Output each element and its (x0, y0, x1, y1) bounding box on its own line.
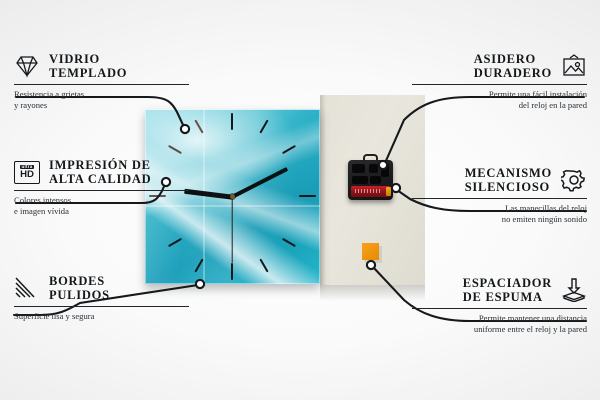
wall-panel-shadow (320, 285, 425, 301)
mechanism-detail (369, 164, 378, 173)
feature-desc-line2: no emiten ningún sonido (412, 214, 587, 225)
feature-mecanismo-silencioso: MECANISMO SILENCIOSO Las manecillas del … (412, 166, 587, 224)
polished-edge-icon (14, 276, 40, 300)
mechanism-detail (352, 176, 368, 184)
feature-title-line2: DE ESPUMA (463, 290, 552, 304)
feature-desc-line2: y rayones (14, 100, 189, 111)
feature-title-line2: SILENCIOSO (465, 180, 552, 194)
clock-mechanism (348, 160, 393, 200)
feature-espaciador-de-espuma: ESPACIADOR DE ESPUMA Permite mantener un… (412, 276, 587, 334)
feature-desc-line1: Resistencia a grietas (14, 89, 189, 100)
feature-bordes-pulidos: BORDES PULIDOS Superficie lisa y segura (14, 274, 189, 322)
mechanism-detail (381, 164, 389, 177)
mechanism-hanger-icon (363, 154, 378, 162)
feature-desc-line1: Colores intensos (14, 195, 189, 206)
ultra-hd-text: HD (20, 170, 34, 180)
feature-title-line1: ASIDERO (474, 52, 552, 66)
feature-title-line1: IMPRESIÓN DE (49, 158, 151, 172)
diamond-icon (14, 54, 40, 78)
divider (14, 190, 189, 191)
feature-title-line1: VIDRIO (49, 52, 127, 66)
divider (412, 84, 587, 85)
feature-impresion-alta-calidad: ultra HD IMPRESIÓN DE ALTA CALIDAD Color… (14, 158, 189, 216)
feature-title-line1: MECANISMO (465, 166, 552, 180)
feature-asidero-duradero: ASIDERO DURADERO Permite una fácil insta… (412, 52, 587, 110)
feature-desc-line1: Permite una fácil instalación (412, 89, 587, 100)
feature-title-line2: PULIDOS (49, 288, 110, 302)
feature-desc-line2: e imagen vívida (14, 206, 189, 217)
divider (412, 308, 587, 309)
picture-frame-hanger-icon (561, 54, 587, 78)
feature-desc-line2: uniforme entre el reloj y la pared (412, 324, 587, 335)
mechanism-detail (370, 176, 381, 184)
feature-vidrio-templado: VIDRIO TEMPLADO Resistencia a grietas y … (14, 52, 189, 110)
foam-spacer (362, 243, 379, 260)
ultra-hd-icon: ultra HD (14, 161, 40, 184)
feature-title-line1: ESPACIADOR (463, 276, 552, 290)
feature-desc-line2: del reloj en la pared (412, 100, 587, 111)
feature-desc-line1: Superficie lisa y segura (14, 311, 189, 322)
mechanism-battery (351, 186, 390, 197)
feature-title-line2: DURADERO (474, 66, 552, 80)
infographic-canvas: VIDRIO TEMPLADO Resistencia a grietas y … (0, 0, 600, 400)
gear-icon (561, 168, 587, 192)
feature-title-line2: ALTA CALIDAD (49, 172, 151, 186)
feature-title-line1: BORDES (49, 274, 110, 288)
battery-label (355, 189, 381, 193)
feature-desc-line1: Permite mantener una distancia (412, 313, 587, 324)
mechanism-detail (352, 164, 365, 173)
divider (14, 84, 189, 85)
feature-title-line2: TEMPLADO (49, 66, 127, 80)
feature-desc-line1: Las manecillas del reloj (412, 203, 587, 214)
divider (412, 198, 587, 199)
divider (14, 306, 189, 307)
down-arrow-layers-icon (561, 278, 587, 302)
